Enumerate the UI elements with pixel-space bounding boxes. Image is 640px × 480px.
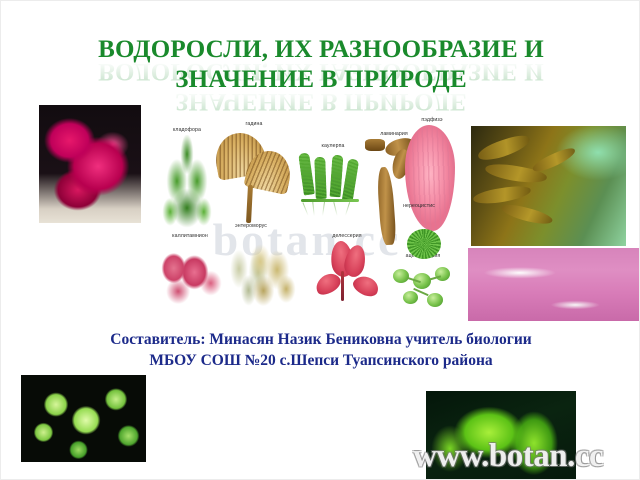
caulerpa-rootlet bbox=[333, 202, 338, 216]
specimen-label-delesseria: делессерия bbox=[332, 233, 361, 239]
green-cells-photo bbox=[21, 375, 146, 462]
caulerpa-frond bbox=[298, 152, 315, 195]
callithamnion-illustration bbox=[153, 241, 227, 309]
ceramium-illustration bbox=[233, 233, 309, 313]
kelp-blade bbox=[476, 132, 532, 164]
title-line-1: ВОДОРОСЛИ, ИХ РАЗНООБРАЗИЕ И ВОДОРОСЛИ, … bbox=[61, 35, 581, 65]
caulerpa-frond bbox=[342, 158, 359, 201]
specimen-delesseria: делессерия bbox=[311, 233, 383, 317]
specimen-label-caulerpa: каулерпа bbox=[322, 143, 345, 149]
pink-lake-photo bbox=[468, 248, 640, 321]
specimen-ceramium bbox=[233, 225, 309, 313]
pink-lake-photo-image bbox=[468, 248, 640, 321]
author-subtitle: Составитель: Минасян Назик Бениковна учи… bbox=[96, 329, 546, 371]
specimen-nereocystis: нереоцистис bbox=[379, 203, 459, 217]
cladophora-illustration bbox=[159, 135, 215, 231]
caulerpa-rootlet bbox=[302, 202, 309, 216]
delesseria-stem bbox=[341, 271, 344, 301]
specimen-label-nereocystis: нереоцистис bbox=[403, 203, 435, 209]
specimen-cladophora: кладофора bbox=[159, 127, 215, 231]
algae-species-plate: botan.cc кладофора гадина энтероморус ка… bbox=[151, 117, 461, 317]
specimen-padina: гадина bbox=[213, 121, 295, 231]
acetabularia-rosette bbox=[407, 229, 441, 259]
green-cells-photo-image bbox=[21, 375, 146, 462]
padina-stem bbox=[246, 185, 253, 223]
acetabularia-illustration bbox=[387, 229, 459, 313]
specimen-callithamnion: каллитамнион bbox=[153, 233, 227, 313]
specimen-label-porphyra: пэдфизэ bbox=[421, 117, 442, 123]
laminaria-holdfast bbox=[365, 139, 385, 151]
specimen-caulerpa: каулерпа bbox=[297, 143, 369, 235]
specimen-label-callithamnion: каллитамнион bbox=[172, 233, 208, 239]
title-line-1-text: ВОДОРОСЛИ, ИХ РАЗНООБРАЗИЕ И bbox=[98, 36, 544, 63]
caulerpa-rootlet bbox=[322, 202, 325, 216]
red-algae-photo-image bbox=[39, 105, 141, 223]
kelp-blade bbox=[531, 145, 578, 175]
caulerpa-rootlet bbox=[312, 202, 315, 216]
caulerpa-illustration bbox=[297, 151, 369, 235]
padina-illustration bbox=[213, 129, 295, 229]
specimen-label-padina: гадина bbox=[246, 121, 263, 127]
delesseria-illustration bbox=[311, 241, 383, 315]
kelp-forest-photo-image bbox=[471, 126, 626, 246]
acetabularia-disc bbox=[403, 291, 418, 304]
site-watermark: www.botan.cc bbox=[413, 438, 603, 475]
kelp-blade bbox=[472, 184, 531, 206]
kelp-blade bbox=[500, 201, 554, 228]
title-line-2: ЗНАЧЕНИЕ В ПРИРОДЕ ЗНАЧЕНИЕ В ПРИРОДЕ bbox=[61, 65, 581, 95]
page-title: ВОДОРОСЛИ, ИХ РАЗНООБРАЗИЕ И ВОДОРОСЛИ, … bbox=[61, 35, 581, 95]
specimen-label-cladophora: кладофора bbox=[173, 127, 201, 133]
red-algae-photo bbox=[39, 105, 141, 223]
presentation-slide: ВОДОРОСЛИ, ИХ РАЗНООБРАЗИЕ И ВОДОРОСЛИ, … bbox=[0, 0, 640, 480]
specimen-label-laminaria: ламинария bbox=[380, 131, 408, 137]
specimen-acetabularia: ацетабулярия bbox=[387, 221, 459, 313]
kelp-forest-photo bbox=[471, 126, 626, 246]
caulerpa-rootlet bbox=[345, 202, 351, 216]
title-line-2-text: ЗНАЧЕНИЕ В ПРИРОДЕ bbox=[175, 66, 467, 93]
acetabularia-disc bbox=[427, 293, 443, 307]
caulerpa-frond bbox=[330, 155, 344, 198]
caulerpa-frond bbox=[314, 157, 326, 199]
acetabularia-disc bbox=[435, 267, 450, 281]
specimen-porphyra: пэдфизэ bbox=[405, 117, 459, 235]
